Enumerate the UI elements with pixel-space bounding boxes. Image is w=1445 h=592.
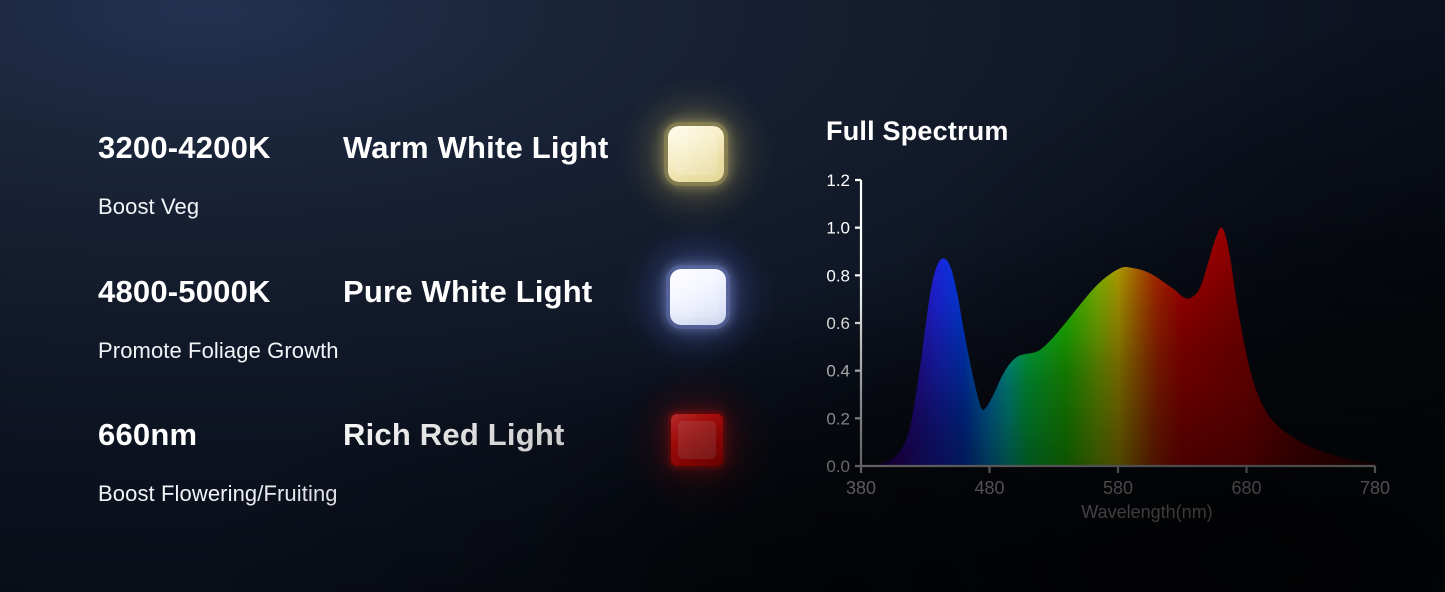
svg-text:680: 680 xyxy=(1231,478,1261,498)
spectrum-infographic: 3200-4200K Warm White Light Boost Veg 48… xyxy=(0,0,1445,592)
led-chip xyxy=(668,126,724,182)
led-chip-inner xyxy=(678,421,716,459)
svg-text:1.0: 1.0 xyxy=(826,219,850,238)
svg-text:380: 380 xyxy=(846,478,876,498)
spec-heading: 3200-4200K Warm White Light xyxy=(98,130,758,182)
spectrum-plot: 0.00.20.40.60.81.01.2380480580680780 xyxy=(812,98,1422,508)
led-chip-inner xyxy=(675,133,717,175)
svg-text:580: 580 xyxy=(1103,478,1133,498)
svg-text:780: 780 xyxy=(1360,478,1390,498)
spec-row-rich-red: 660nm Rich Red Light Boost Flowering/Fru… xyxy=(98,417,758,507)
led-chip xyxy=(671,414,723,466)
svg-text:0.4: 0.4 xyxy=(826,362,850,381)
spec-light-name: Rich Red Light xyxy=(343,417,565,453)
full-spectrum-chart: Full Spectrum 0.00.20.40.60.81.01.238048… xyxy=(812,98,1422,548)
svg-text:0.8: 0.8 xyxy=(826,266,850,285)
spec-row-warm-white: 3200-4200K Warm White Light Boost Veg xyxy=(98,130,758,220)
spec-heading: 660nm Rich Red Light xyxy=(98,417,758,469)
spec-temperature: 4800-5000K xyxy=(98,274,343,310)
svg-text:0.2: 0.2 xyxy=(826,409,850,428)
spec-benefit: Boost Veg xyxy=(98,194,758,220)
spec-light-name: Warm White Light xyxy=(343,130,609,166)
led-chip xyxy=(670,269,726,325)
x-axis-label-text: Wavelength(nm) xyxy=(1081,502,1212,522)
spec-heading: 4800-5000K Pure White Light xyxy=(98,274,758,326)
led-chip-inner xyxy=(677,276,719,318)
x-axis-label: Wavelength(nm) xyxy=(812,502,1422,523)
svg-text:480: 480 xyxy=(974,478,1004,498)
spec-temperature: 3200-4200K xyxy=(98,130,343,166)
svg-text:1.2: 1.2 xyxy=(826,171,850,190)
spec-list: 3200-4200K Warm White Light Boost Veg 48… xyxy=(0,0,790,592)
spec-light-name: Pure White Light xyxy=(343,274,592,310)
spec-benefit: Boost Flowering/Fruiting xyxy=(98,481,758,507)
spec-row-pure-white: 4800-5000K Pure White Light Promote Foli… xyxy=(98,274,758,364)
svg-text:0.6: 0.6 xyxy=(826,314,850,333)
spec-temperature: 660nm xyxy=(98,417,343,453)
svg-text:0.0: 0.0 xyxy=(826,457,850,476)
spec-benefit: Promote Foliage Growth xyxy=(98,338,758,364)
